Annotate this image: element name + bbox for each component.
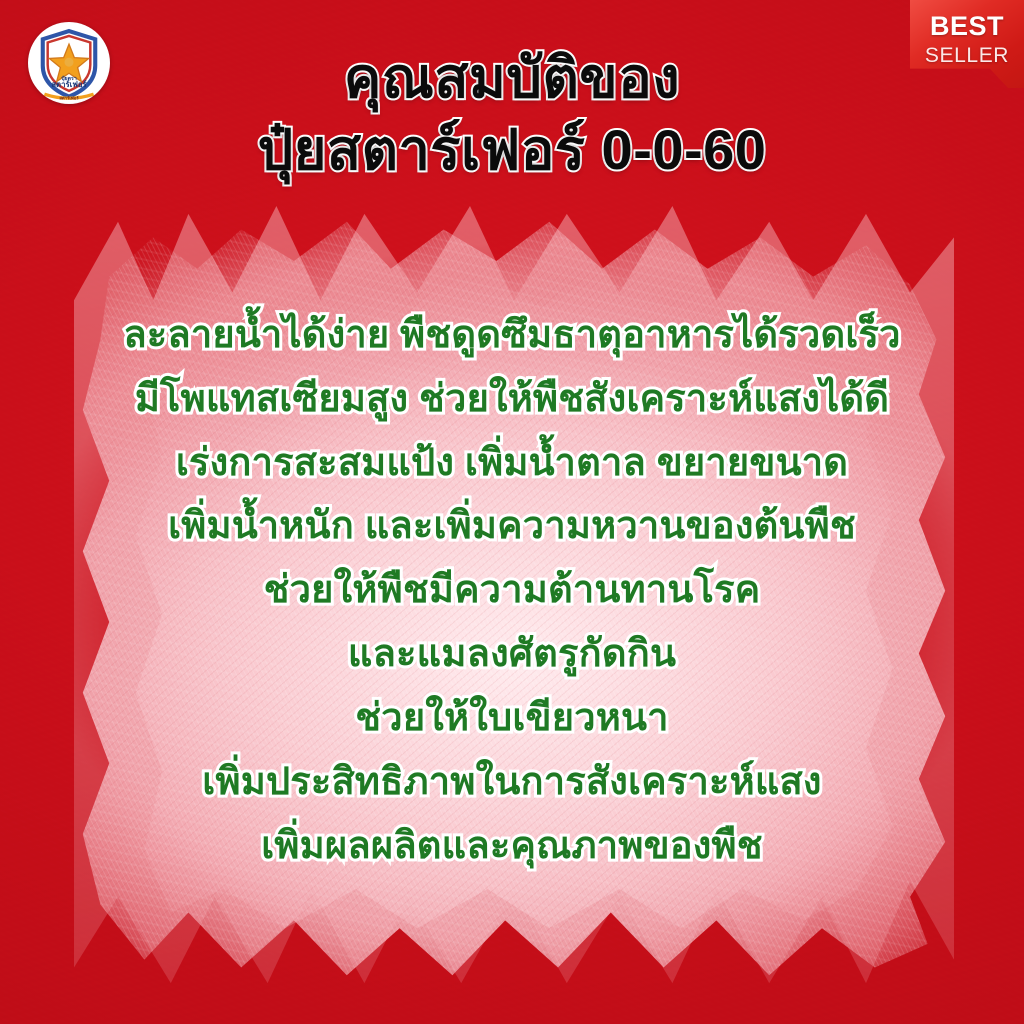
benefit-line: และแมลงศัตรูกัดกิน bbox=[60, 623, 964, 687]
best-seller-line-1: BEST bbox=[930, 13, 1004, 40]
benefit-line: ละลายน้ำได้ง่าย พืชดูดซึมธาตุอาหารได้รวด… bbox=[60, 304, 964, 368]
benefit-line: เร่งการสะสมแป้ง เพิ่มน้ำตาล ขยายขนาด bbox=[60, 432, 964, 496]
benefits-list: ละลายน้ำได้ง่าย พืชดูดซึมธาตุอาหารได้รวด… bbox=[60, 304, 964, 878]
page-title: คุณสมบัติของ ปุ๋ยสตาร์เฟอร์ 0-0-60 bbox=[0, 42, 1024, 185]
promo-card: ปุ๋ยตรา สตาร์เฟอร์ สตาร์เฟอร์ ปุ๋ยตราดาว… bbox=[0, 0, 1024, 1024]
benefit-line: ช่วยให้ใบเขียวหนา bbox=[60, 687, 964, 751]
benefit-line: เพิ่มประสิทธิภาพในการสังเคราะห์แสง bbox=[60, 751, 964, 815]
headline-line-1: คุณสมบัติของ bbox=[0, 42, 1024, 114]
headline-line-2: ปุ๋ยสตาร์เฟอร์ 0-0-60 bbox=[0, 114, 1024, 186]
benefit-line: เพิ่มน้ำหนัก และเพิ่มความหวานของต้นพืช bbox=[60, 495, 964, 559]
benefit-line: ช่วยให้พืชมีความต้านทานโรค bbox=[60, 559, 964, 623]
benefit-line: เพิ่มผลผลิตและคุณภาพของพืช bbox=[60, 815, 964, 879]
benefit-line: มีโพแทสเซียมสูง ช่วยให้พืชสังเคราะห์แสงไ… bbox=[60, 368, 964, 432]
